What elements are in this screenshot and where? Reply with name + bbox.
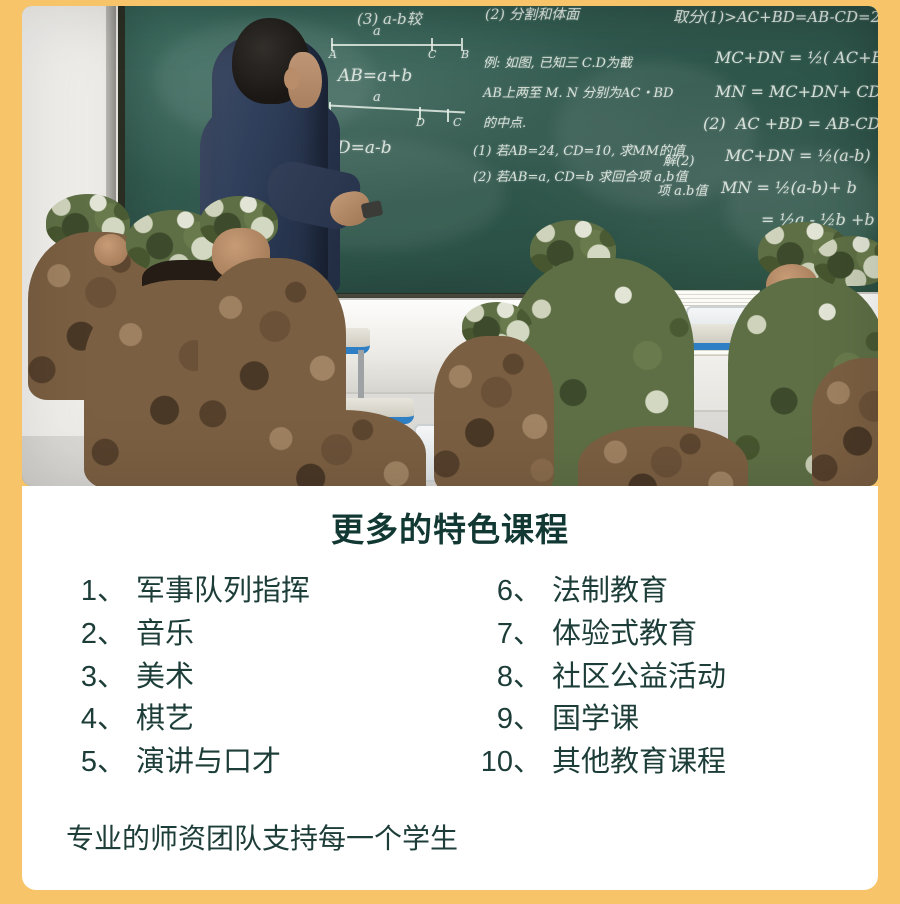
course-number: 6、 bbox=[480, 570, 542, 613]
course-label: 其他教育课程 bbox=[542, 741, 726, 784]
course-item: 8、 社区公益活动 bbox=[452, 656, 878, 699]
chalk-text: (1) 若AB=24, CD=10, 求MM的值 bbox=[473, 140, 685, 159]
chalk-text: C bbox=[453, 116, 461, 129]
course-number: 7、 bbox=[480, 613, 542, 656]
course-item: 6、 法制教育 bbox=[452, 570, 878, 613]
chalk-text: 项 a.b值 bbox=[657, 180, 707, 199]
chalk-text: a bbox=[373, 90, 381, 105]
chalk-text: B bbox=[461, 48, 469, 61]
chalk-text: (2) AC +BD = AB-CD = a-b bbox=[703, 114, 878, 133]
chalk-text: A bbox=[329, 48, 337, 61]
course-column-left: 1、 军事队列指挥 2、 音乐 3、 美术 4、 棋艺 5、 演讲与口才 bbox=[22, 570, 452, 783]
course-item: 7、 体验式教育 bbox=[452, 613, 878, 656]
chalk-text: 的中点. bbox=[483, 112, 526, 131]
course-item: 5、 演讲与口才 bbox=[22, 741, 452, 784]
course-number: 10、 bbox=[480, 741, 542, 784]
course-number: 3、 bbox=[64, 656, 126, 699]
course-card: 更多的特色课程 1、 军事队列指挥 2、 音乐 3、 美术 4、 棋艺 bbox=[22, 486, 878, 890]
chalk-tick bbox=[447, 109, 449, 122]
course-column-right: 6、 法制教育 7、 体验式教育 8、 社区公益活动 9、 国学课 10、 bbox=[452, 570, 878, 783]
course-item: 3、 美术 bbox=[22, 656, 452, 699]
course-label: 音乐 bbox=[126, 613, 194, 656]
course-item: 9、 国学课 bbox=[452, 698, 878, 741]
chalk-text: (3) a-b较 bbox=[357, 8, 422, 29]
chalk-text: (2) 分割和体面 bbox=[485, 6, 579, 24]
chalk-text: MC+DN = ½( AC+BD) = ½×14 =7 bbox=[715, 48, 878, 67]
student-head bbox=[94, 234, 128, 266]
course-label: 社区公益活动 bbox=[542, 656, 726, 699]
card-footer-text: 专业的师资团队支持每一个学生 bbox=[22, 783, 878, 857]
course-list-grid: 1、 军事队列指挥 2、 音乐 3、 美术 4、 棋艺 5、 演讲与口才 bbox=[22, 570, 878, 783]
course-number: 1、 bbox=[64, 570, 126, 613]
page-title: 更多的特色课程 bbox=[22, 486, 878, 548]
course-number: 2、 bbox=[64, 613, 126, 656]
course-number: 4、 bbox=[64, 698, 126, 741]
uniform-torso bbox=[578, 426, 748, 486]
uniform-torso bbox=[434, 336, 554, 486]
chalk-text: 例: 如图, 已知三 C.D为截 bbox=[483, 52, 632, 71]
course-label: 法制教育 bbox=[542, 570, 668, 613]
course-item: 1、 军事队列指挥 bbox=[22, 570, 452, 613]
course-label: 演讲与口才 bbox=[126, 741, 281, 784]
chalk-text: MN = ½(a-b)+ b bbox=[721, 178, 857, 197]
chalk-text: AB=a+b bbox=[338, 66, 412, 86]
uniform-torso bbox=[240, 410, 426, 486]
chalk-text: (2) 若AB=a, CD=b 求回合项 a,b值 bbox=[473, 166, 687, 185]
course-label: 美术 bbox=[126, 656, 194, 699]
poster-root: (3) a-b较 a A C B AB=a+b a A D C D=a-b bbox=[0, 0, 900, 904]
chalk-text: D=a-b bbox=[337, 138, 392, 158]
course-label: 棋艺 bbox=[126, 698, 194, 741]
photo-canvas: (3) a-b较 a A C B AB=a+b a A D C D=a-b bbox=[22, 6, 878, 486]
chalk-segment bbox=[331, 44, 461, 46]
chalk-text: 取分(1)>AC+BD=AB-CD=24-10=14 bbox=[673, 6, 878, 27]
chalk-text: a bbox=[373, 24, 381, 39]
chalk-text: MC+DN = ½(a-b) bbox=[725, 146, 871, 165]
course-label: 国学课 bbox=[542, 698, 639, 741]
chalk-text: AB上两至 M. N 分别为AC・BD bbox=[483, 82, 673, 101]
course-item: 10、 其他教育课程 bbox=[452, 741, 878, 784]
camouflage-cap bbox=[814, 236, 878, 286]
chalk-text: 解(2) bbox=[663, 150, 694, 169]
teacher-ear bbox=[284, 68, 299, 90]
course-number: 9、 bbox=[480, 698, 542, 741]
course-label: 体验式教育 bbox=[542, 613, 697, 656]
course-label: 军事队列指挥 bbox=[126, 570, 310, 613]
course-number: 5、 bbox=[64, 741, 126, 784]
chalk-text: MN = MC+DN+ CD = 17 bbox=[715, 82, 878, 101]
chalk-text: D bbox=[416, 116, 425, 129]
course-number: 8、 bbox=[480, 656, 542, 699]
classroom-photo: (3) a-b较 a A C B AB=a+b a A D C D=a-b bbox=[22, 6, 878, 486]
course-item: 2、 音乐 bbox=[22, 613, 452, 656]
chalk-text: C bbox=[428, 48, 436, 61]
course-item: 4、 棋艺 bbox=[22, 698, 452, 741]
